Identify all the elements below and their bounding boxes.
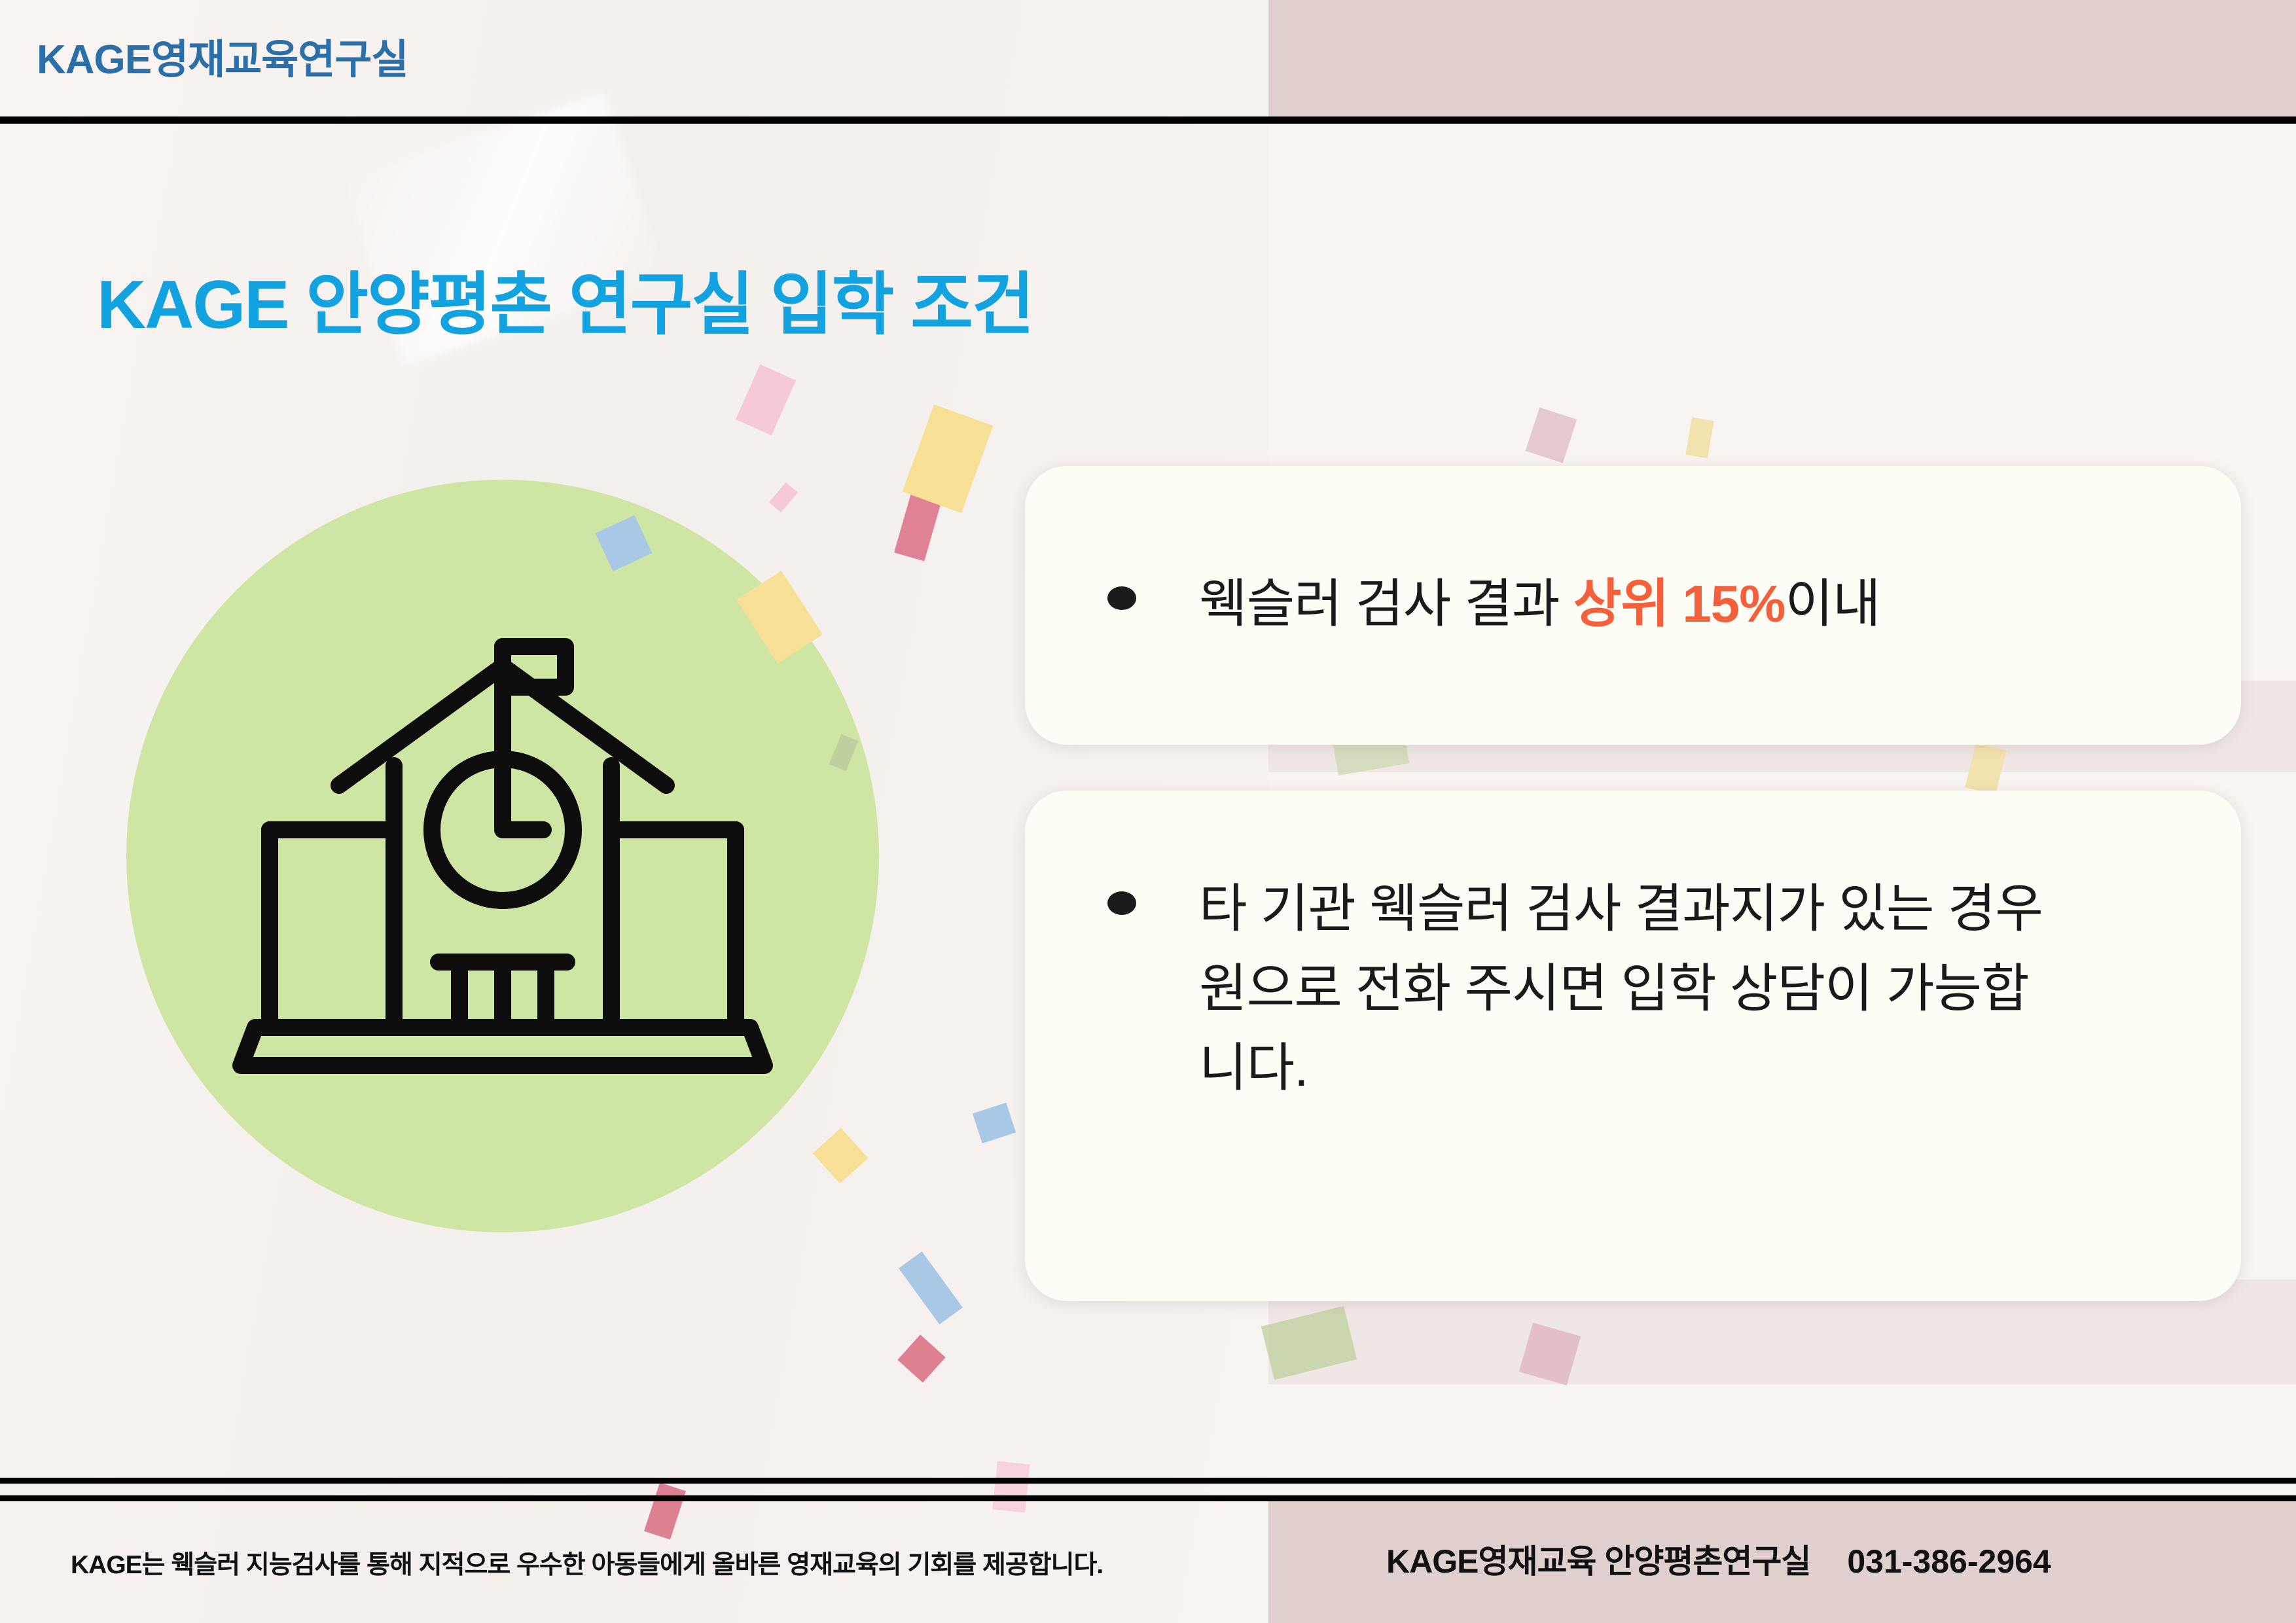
school-building-icon [229,569,779,1119]
condition-card-2: 타 기관 웩슬러 검사 결과지가 있는 경우 원으로 전화 주시면 입학 상담이… [1025,791,2241,1301]
bullet-row: 웩슬러 검사 결과 상위 15%이내 [1107,564,1880,644]
page-title: KAGE 안양평촌 연구실 입학 조건 [97,249,1033,348]
confetti-piece [992,1461,1030,1513]
card1-text-before: 웩슬러 검사 결과 [1199,575,1573,633]
header-divider-rule [0,116,2296,124]
header-pink-band [1268,0,2296,116]
bullet-dot-icon [1107,891,1136,915]
footer-contact: KAGE영재교육 안양평촌연구실031-386-2964 [1386,1535,2051,1582]
bullet-dot-icon [1107,586,1136,610]
footer-tagline: KAGE는 웩슬러 지능검사를 통해 지적으로 우수한 아동들에게 올바른 영재… [71,1544,1103,1581]
slide-root: KAGE영재교육연구실 KAGE 안양평촌 연구실 입학 조건 [0,0,2296,1623]
card1-highlight: 상위 15% [1573,575,1785,633]
brand-logo-text: KAGE영재교육연구실 [37,26,408,85]
card2-line-1: 타 기관 웩슬러 검사 결과지가 있는 경우 [1199,880,2043,938]
card2-line-3: 니다. [1199,1039,1308,1097]
card1-text: 웩슬러 검사 결과 상위 15%이내 [1199,564,1880,644]
card1-text-after: 이내 [1785,575,1880,633]
footer-phone-number: 031-386-2964 [1847,1543,2051,1580]
condition-card-1: 웩슬러 검사 결과 상위 15%이내 [1025,466,2241,745]
footer-divider-rule-bottom [0,1495,2296,1501]
footer-divider-rule-top [0,1478,2296,1484]
footer-org-name: KAGE영재교육 안양평촌연구실 [1386,1543,1810,1580]
card2-text: 타 기관 웩슬러 검사 결과지가 있는 경우 원으로 전화 주시면 입학 상담이… [1199,869,2043,1108]
card2-line-2: 원으로 전화 주시면 입학 상담이 가능합 [1199,959,2029,1018]
bullet-row: 타 기관 웩슬러 검사 결과지가 있는 경우 원으로 전화 주시면 입학 상담이… [1107,869,2181,1108]
